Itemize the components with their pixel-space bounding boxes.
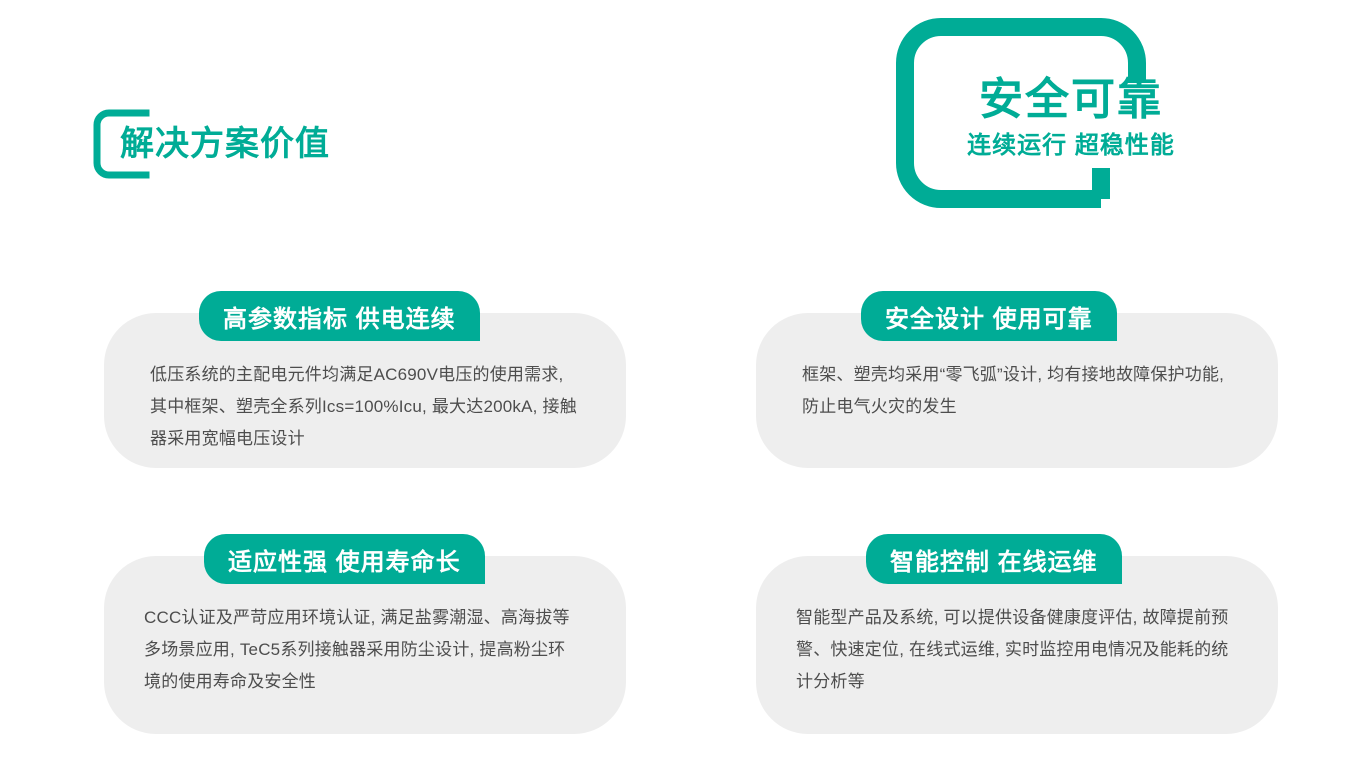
feature-card-badge: 高参数指标 供电连续 — [199, 291, 480, 341]
feature-card-badge: 适应性强 使用寿命长 — [204, 534, 485, 584]
feature-card-badge: 智能控制 在线运维 — [866, 534, 1122, 584]
solution-value-page: 解决方案价值 安全可靠 连续运行 超稳性能 高参数指标 供电连续 低压系统的主配… — [0, 0, 1350, 782]
hero-logo: 安全可靠 连续运行 超稳性能 — [896, 18, 1196, 208]
hero-sub-text: 连续运行 超稳性能 — [946, 130, 1196, 162]
feature-card-body: 智能型产品及系统, 可以提供设备健康度评估, 故障提前预警、快速定位, 在线式运… — [796, 602, 1232, 698]
feature-card-badge: 安全设计 使用可靠 — [861, 291, 1117, 341]
feature-card-body: 框架、塑壳均采用“零飞弧”设计, 均有接地故障保护功能, 防止电气火灾的发生 — [802, 359, 1232, 423]
feature-card: 适应性强 使用寿命长 CCC认证及严苛应用环境认证, 满足盐雾潮湿、高海拔等多场… — [104, 556, 626, 734]
feature-card: 安全设计 使用可靠 框架、塑壳均采用“零飞弧”设计, 均有接地故障保护功能, 防… — [756, 313, 1278, 468]
section-title: 解决方案价值 — [120, 122, 330, 166]
section-heading: 解决方案价值 — [92, 108, 512, 192]
hero-main-text: 安全可靠 — [946, 74, 1196, 126]
feature-card: 智能控制 在线运维 智能型产品及系统, 可以提供设备健康度评估, 故障提前预警、… — [756, 556, 1278, 734]
feature-card-body: 低压系统的主配电元件均满足AC690V电压的使用需求, 其中框架、塑壳全系列Ic… — [150, 359, 580, 455]
feature-card-body: CCC认证及严苛应用环境认证, 满足盐雾潮湿、高海拔等多场景应用, TeC5系列… — [144, 602, 580, 698]
feature-card: 高参数指标 供电连续 低压系统的主配电元件均满足AC690V电压的使用需求, 其… — [104, 313, 626, 468]
